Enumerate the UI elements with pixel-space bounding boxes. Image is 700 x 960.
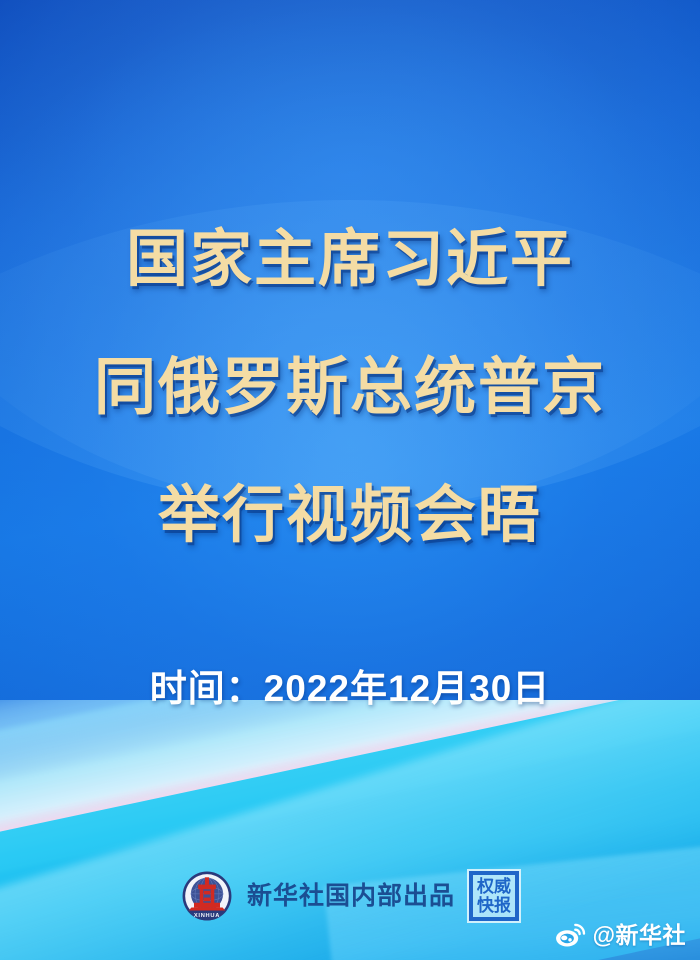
headline-block: 国家主席习近平 同俄罗斯总统普京 举行视频会晤 (0, 196, 700, 580)
svg-text:XINHUA: XINHUA (194, 913, 220, 919)
poster-canvas: 国家主席习近平 同俄罗斯总统普京 举行视频会晤 时间：2022年12月30日 (0, 0, 700, 960)
headline-line-2: 同俄罗斯总统普京 (0, 324, 700, 452)
stamp-line-2: 快报 (477, 896, 511, 915)
weibo-watermark: @新华社 (555, 923, 686, 948)
ribbon-band-1 (0, 700, 700, 817)
footer-credit-bar: XINHUA 新华社国内部出品 权威 快报 (0, 862, 700, 930)
ribbon-band-2 (0, 700, 700, 817)
stamp-line-1: 权威 (477, 877, 511, 896)
date-block: 时间：2022年12月30日 (0, 658, 700, 712)
authority-stamp-badge: 权威 快报 (469, 871, 519, 921)
agency-credit-label: 新华社国内部出品 (247, 884, 455, 909)
event-date-label: 时间：2022年12月30日 (150, 668, 551, 709)
headline-line-3: 举行视频会晤 (0, 452, 700, 580)
weibo-icon (555, 923, 586, 948)
xinhua-emblem-icon: XINHUA (181, 870, 233, 922)
weibo-handle-label: @新华社 (593, 924, 686, 947)
headline-line-1: 国家主席习近平 (0, 196, 700, 324)
